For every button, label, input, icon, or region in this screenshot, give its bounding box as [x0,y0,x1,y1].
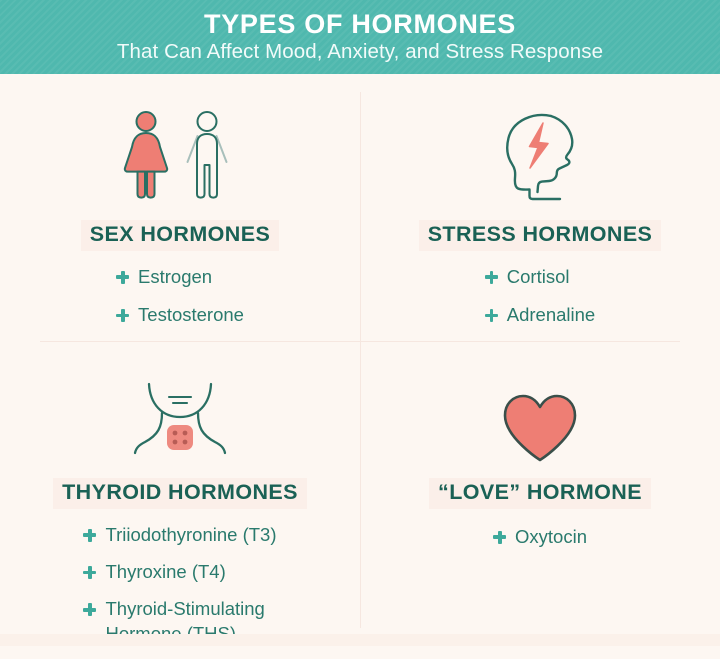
list-item: Oxytocin [493,525,587,549]
categories-grid: SEX HORMONES Estrogen Testosterone [0,74,720,646]
list-item: Testosterone [116,303,244,327]
category-thyroid-hormones: THYROID HORMONES Triiodothyronine (T3) T… [0,342,360,659]
category-stress-hormones: STRESS HORMONES Cortisol Adrenaline [360,74,720,341]
sex-hormones-icon-container [119,102,241,202]
hormone-label: Triiodothyronine (T3) [105,523,276,547]
hormone-label: Testosterone [138,303,244,327]
plus-icon [83,529,96,542]
plus-icon [83,603,96,616]
hormones-infographic: TYPES OF HORMONES That Can Affect Mood, … [0,0,720,658]
neck-thyroid-gland-icon [125,380,235,464]
heart-icon [500,392,580,464]
hormone-label: Estrogen [138,265,212,289]
category-heading-love-hormone: “LOVE” HORMONE [429,478,651,509]
plus-icon [485,271,498,284]
thyroid-hormones-icon-container [125,364,235,464]
list-item: Adrenaline [485,303,595,327]
stress-hormones-icon-container [494,102,586,202]
category-sex-hormones: SEX HORMONES Estrogen Testosterone [0,74,360,341]
list-item: Cortisol [485,265,595,289]
page-subtitle: That Can Affect Mood, Anxiety, and Stres… [117,41,603,64]
list-item: Triiodothyronine (T3) [83,523,276,547]
female-male-figures-icon [119,110,241,202]
hormone-list-love-hormone: Oxytocin [493,525,587,563]
hormone-list-stress-hormones: Cortisol Adrenaline [485,265,595,342]
hormone-label: Thyroxine (T4) [105,560,225,584]
head-lightning-bolt-icon [494,110,586,202]
page-title: TYPES OF HORMONES [204,10,516,38]
hormone-label: Adrenaline [507,303,595,327]
category-heading-sex-hormones: SEX HORMONES [81,220,279,251]
plus-icon [116,309,129,322]
love-hormone-icon-container [500,364,580,464]
hormone-label: Oxytocin [515,525,587,549]
hormone-label: Cortisol [507,265,570,289]
plus-icon [485,309,498,322]
plus-icon [83,566,96,579]
list-item: Thyroxine (T4) [83,560,276,584]
hormone-list-sex-hormones: Estrogen Testosterone [116,265,244,342]
category-love-hormone: “LOVE” HORMONE Oxytocin [360,342,720,563]
list-item: Estrogen [116,265,244,289]
header-banner: TYPES OF HORMONES That Can Affect Mood, … [0,0,720,74]
category-heading-stress-hormones: STRESS HORMONES [419,220,662,251]
bottom-edge-strip [0,634,720,646]
plus-icon [116,271,129,284]
plus-icon [493,531,506,544]
category-heading-thyroid-hormones: THYROID HORMONES [53,478,307,509]
